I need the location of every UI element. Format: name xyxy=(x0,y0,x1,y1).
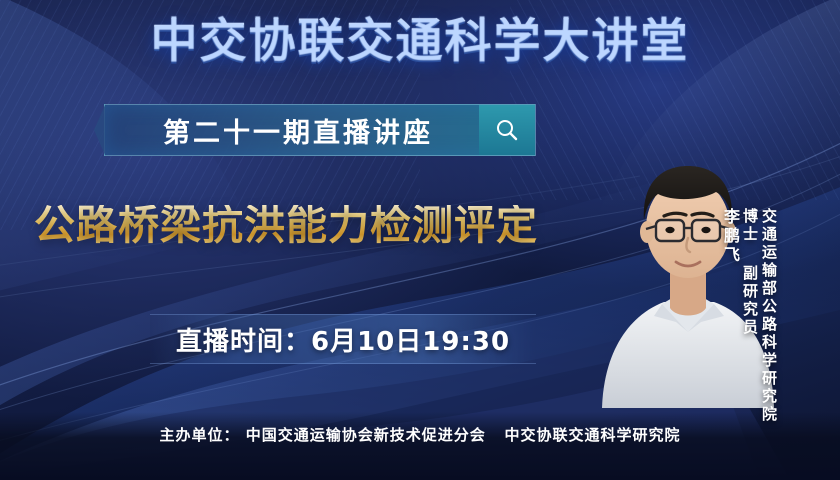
speaker-credit: 李鹏飞 博士 副研究员 交通运输部公路科学研究院 xyxy=(722,208,776,424)
speaker-name: 李鹏飞 xyxy=(722,208,738,424)
poster-root: 中交协联交通科学大讲堂 第二十一期直播讲座 公路桥梁抗洪能力检测评定 直播时间：… xyxy=(0,0,840,480)
footer-organizers: 主办单位： 中国交通运输协会新技术促进分会 中交协联交通科学研究院 xyxy=(160,424,681,445)
subtitle-text: 第二十一期直播讲座 xyxy=(163,111,433,150)
speaker-title: 博士 副研究员 xyxy=(742,208,757,424)
main-title: 中交协联交通科学大讲堂 xyxy=(0,18,840,65)
search-icon xyxy=(479,105,535,155)
subtitle-plate: 第二十一期直播讲座 xyxy=(104,104,536,156)
headline: 公路桥梁抗洪能力检测评定 xyxy=(34,205,538,246)
live-time-text: 直播时间：6月10日19:30 xyxy=(176,321,510,358)
footer-bar: 主办单位： 中国交通运输协会新技术促进分会 中交协联交通科学研究院 xyxy=(0,412,840,480)
main-title-text: 中交协联交通科学大讲堂 xyxy=(151,18,690,65)
speaker-affiliation: 交通运输部公路科学研究院 xyxy=(761,208,776,424)
live-time-plate: 直播时间：6月10日19:30 xyxy=(150,314,536,364)
speaker-block: 李鹏飞 博士 副研究员 交通运输部公路科学研究院 xyxy=(584,116,784,408)
